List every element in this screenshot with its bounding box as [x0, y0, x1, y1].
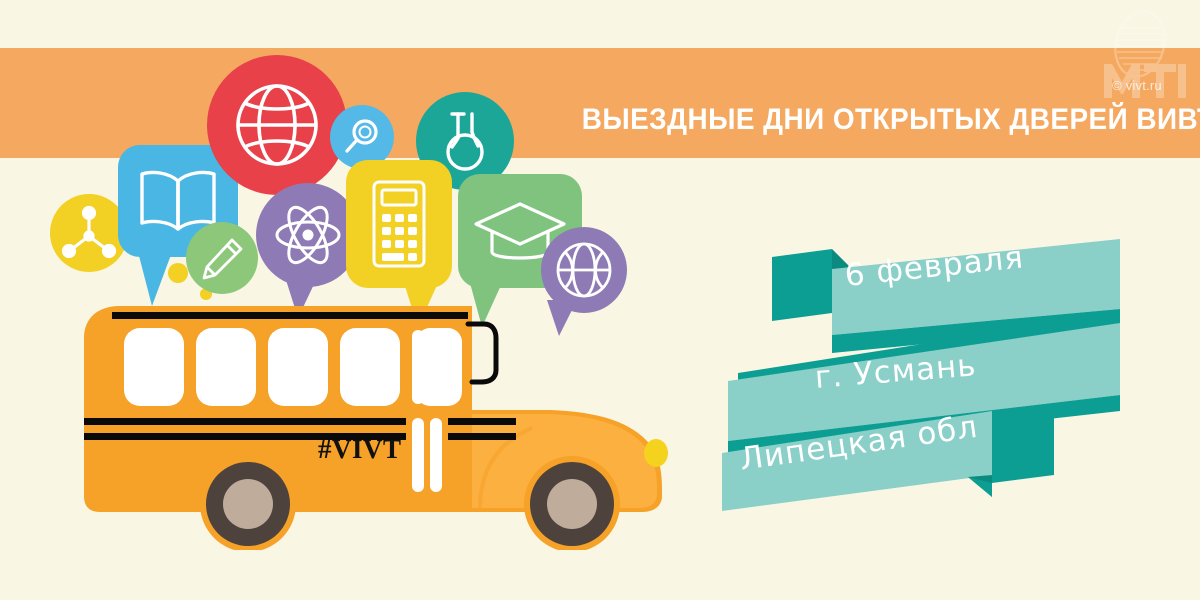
bus-headlight	[644, 439, 668, 467]
bus-mirror	[468, 324, 496, 382]
page-title: ВЫЕЗДНЫЕ ДНИ ОТКРЫТЫХ ДВЕРЕЙ ВИВТ	[582, 99, 1159, 141]
icon-bubble-cluster	[0, 0, 660, 330]
bus-roof-stripe	[112, 312, 468, 319]
bus-hashtag: #VIVT	[318, 434, 402, 465]
bus-window	[268, 328, 328, 406]
bus-front-stripe-upper	[448, 418, 516, 425]
bubble-pencil	[186, 222, 258, 294]
copyright-text: © vivt.ru	[1078, 78, 1196, 93]
ribbon-region-tail	[992, 413, 1054, 483]
bubble-calculator	[346, 160, 452, 288]
bus-window	[196, 328, 256, 406]
poster-canvas: © vivt.ru ВЫЕЗДНЫЕ ДНИ ОТКРЫТЫХ ДВЕРЕЙ В…	[0, 0, 1200, 600]
bus-front-stripe-lower	[448, 433, 516, 440]
bubble-molecule	[50, 194, 128, 272]
ribbon-date-tail	[772, 249, 832, 321]
school-bus	[80, 290, 680, 550]
bubble-globe	[207, 55, 347, 195]
bus-wheel-rear	[200, 456, 296, 550]
bus-side-stripe-upper	[84, 418, 406, 425]
bubble-atom	[256, 183, 360, 287]
bus-wheel-front	[524, 456, 620, 550]
pencil-icon	[186, 222, 258, 294]
bus-window	[340, 328, 400, 406]
atom-icon	[256, 183, 360, 287]
globe-icon	[207, 55, 347, 195]
calculator-icon	[346, 160, 452, 288]
bus-window	[124, 328, 184, 406]
molecule-icon	[50, 194, 128, 272]
